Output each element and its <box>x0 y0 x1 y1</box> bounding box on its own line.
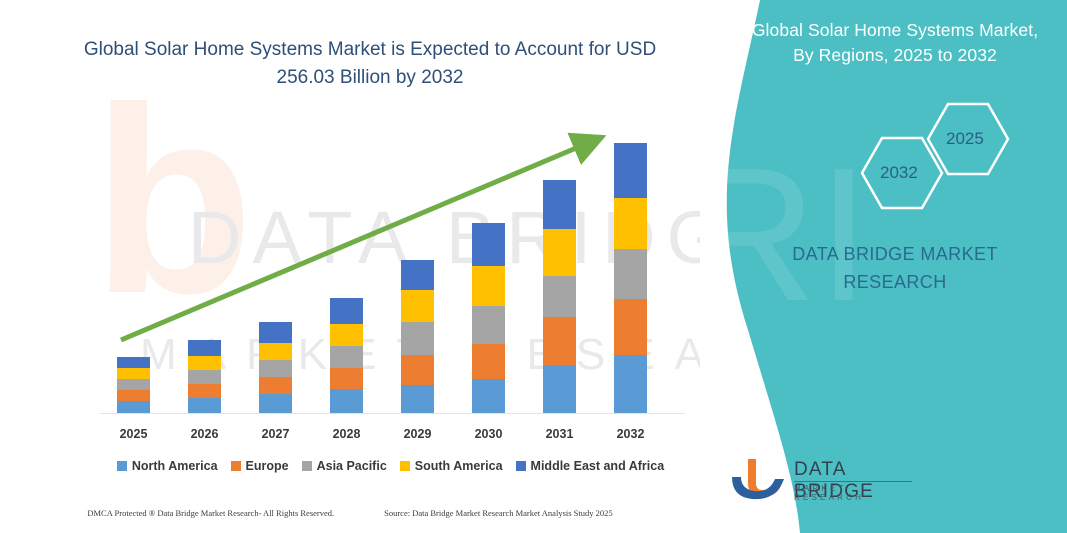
legend-swatch-icon <box>231 461 241 471</box>
hexagon-group: 2025 2032 <box>820 100 1050 215</box>
bar-segment <box>614 299 647 355</box>
legend-label: Middle East and Africa <box>531 459 665 473</box>
bar-segment <box>401 260 434 290</box>
legend-item[interactable]: South America <box>400 459 503 473</box>
bar-segment <box>330 298 363 324</box>
footer: DMCA Protected ® Data Bridge Market Rese… <box>0 508 700 518</box>
bar-2031 <box>543 180 576 413</box>
bar-segment <box>543 317 576 365</box>
x-tick-2029: 2029 <box>388 427 448 441</box>
bar-segment <box>117 357 150 368</box>
bar-segment <box>472 379 505 413</box>
x-tick-2025: 2025 <box>104 427 164 441</box>
x-tick-2027: 2027 <box>246 427 306 441</box>
bar-segment <box>117 368 150 379</box>
chart-legend: North AmericaEuropeAsia PacificSouth Ame… <box>98 459 683 473</box>
bar-segment <box>472 306 505 344</box>
panel-brand-line-2: RESEARCH <box>740 268 1050 296</box>
chart-plot-area: 20252026202720282029203020312032 <box>0 0 710 533</box>
bar-segment <box>330 346 363 368</box>
x-tick-2026: 2026 <box>175 427 235 441</box>
legend-item[interactable]: Europe <box>231 459 289 473</box>
hexagon-front-label: 2032 <box>880 163 918 183</box>
bar-segment <box>543 229 576 276</box>
bar-2025 <box>117 357 150 413</box>
infographic-page: b DATA BRIDGE MARKET RESEARCH Global Sol… <box>0 0 1067 533</box>
right-brand-panel: RI Global Solar Home Systems Market, By … <box>700 0 1067 533</box>
legend-label: South America <box>415 459 503 473</box>
bar-2030 <box>472 223 505 413</box>
bar-2032 <box>614 143 647 413</box>
bar-2028 <box>330 298 363 413</box>
x-tick-2031: 2031 <box>530 427 590 441</box>
legend-label: North America <box>132 459 218 473</box>
bar-segment <box>259 360 292 377</box>
legend-swatch-icon <box>400 461 410 471</box>
bar-segment <box>117 401 150 413</box>
legend-swatch-icon <box>302 461 312 471</box>
footer-source: Source: Data Bridge Market Research Mark… <box>384 508 613 518</box>
growth-arrow-icon <box>0 0 710 533</box>
bar-segment <box>543 276 576 317</box>
x-tick-2028: 2028 <box>317 427 377 441</box>
bar-segment <box>259 377 292 394</box>
bar-segment <box>472 266 505 306</box>
bar-segment <box>401 385 434 413</box>
panel-title: Global Solar Home Systems Market, By Reg… <box>740 18 1050 68</box>
logo-mark-icon <box>728 453 790 503</box>
bar-segment <box>614 143 647 198</box>
bar-segment <box>401 290 434 322</box>
x-axis-line <box>100 413 685 414</box>
bar-segment <box>330 324 363 346</box>
panel-brand-text: DATA BRIDGE MARKET RESEARCH <box>740 240 1050 296</box>
logo-divider <box>794 481 912 482</box>
bar-2026 <box>188 340 221 413</box>
bar-segment <box>614 249 647 299</box>
legend-swatch-icon <box>516 461 526 471</box>
x-tick-2032: 2032 <box>601 427 661 441</box>
bar-segment <box>117 379 150 390</box>
logo-sub-text: MARKET RESEARCH <box>794 484 918 502</box>
hexagon-back-label: 2025 <box>946 129 984 149</box>
bar-segment <box>259 343 292 360</box>
bar-segment <box>188 398 221 413</box>
legend-swatch-icon <box>117 461 127 471</box>
footer-copyright: DMCA Protected ® Data Bridge Market Rese… <box>87 508 334 518</box>
bar-2027 <box>259 322 292 413</box>
x-tick-2030: 2030 <box>459 427 519 441</box>
bar-segment <box>188 384 221 398</box>
bar-segment <box>543 180 576 229</box>
bar-segment <box>259 394 292 413</box>
bar-segment <box>188 370 221 384</box>
bar-segment <box>330 368 363 389</box>
legend-item[interactable]: Asia Pacific <box>302 459 387 473</box>
bar-segment <box>259 322 292 343</box>
bar-segment <box>401 322 434 355</box>
bar-segment <box>543 365 576 413</box>
legend-label: Europe <box>246 459 289 473</box>
bar-2029 <box>401 260 434 413</box>
legend-item[interactable]: North America <box>117 459 218 473</box>
bar-segment <box>614 198 647 249</box>
hexagon-shapes <box>820 100 1050 220</box>
bar-segment <box>472 344 505 379</box>
legend-label: Asia Pacific <box>317 459 387 473</box>
bar-segment <box>330 389 363 413</box>
data-bridge-logo: DATA BRIDGE MARKET RESEARCH <box>728 453 918 509</box>
panel-brand-line-1: DATA BRIDGE MARKET <box>740 240 1050 268</box>
bar-segment <box>614 355 647 413</box>
bar-segment <box>188 340 221 356</box>
bar-segment <box>117 390 150 401</box>
bar-segment <box>188 356 221 370</box>
bar-segment <box>401 355 434 385</box>
legend-item[interactable]: Middle East and Africa <box>516 459 665 473</box>
bar-segment <box>472 223 505 266</box>
